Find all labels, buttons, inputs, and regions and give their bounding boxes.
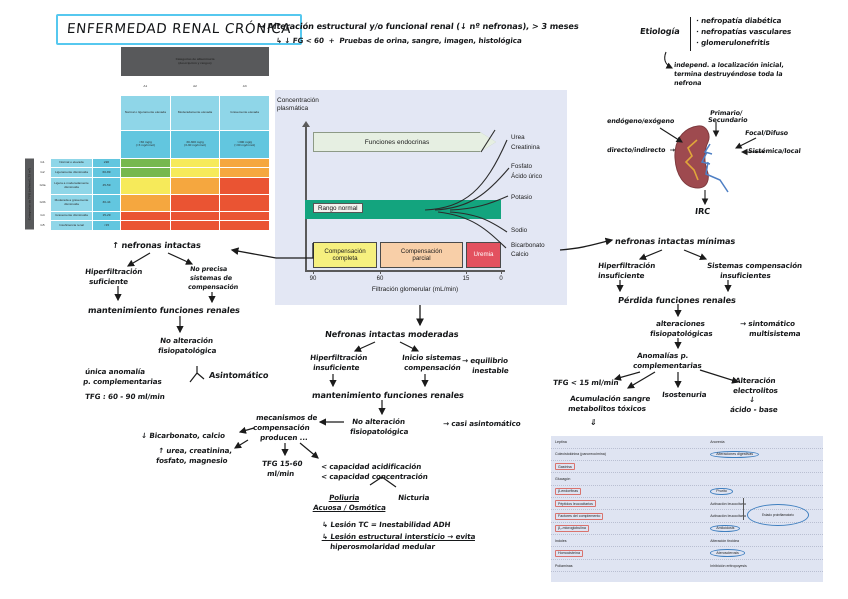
branch-right-hiperf-l1: Hiperfiltración: [598, 262, 656, 270]
toxin-name-cell: Gastrina: [551, 461, 638, 473]
chart-xticklabel-0: 90: [310, 276, 317, 282]
chart-endocrine-box: Funciones endocrinas: [313, 132, 481, 152]
kdigo-row-code: G2: [35, 168, 51, 178]
branch-center-equilibrio-l2: inestable: [472, 367, 510, 375]
chart-series-urea: Urea: [511, 134, 525, 142]
toxin-effect: Prurito: [710, 488, 733, 496]
branch-left-anomalia-l2: p. complementarias: [83, 378, 163, 386]
arrow-right-b1: [640, 250, 662, 259]
toxin-name: β₂-microglobulina: [555, 525, 589, 532]
toxin-row: IndolesAlteración tiroidea: [551, 535, 823, 547]
kdigo-row-desc: Normal o elevada: [51, 158, 93, 168]
toxin-effect: Alteración tiroidea: [710, 539, 739, 543]
toxin-name-cell: Glucagón: [551, 473, 638, 485]
toxin-name-cell: Indoles: [551, 535, 638, 547]
branch-left-hiperfiltracion-l2: suficiente: [89, 278, 129, 286]
kdigo-albuminuria-header-l2: (descripción y rangos): [178, 61, 211, 65]
kdigo-risk-cell-red: [170, 194, 220, 211]
chart-xtick-90: [313, 270, 314, 274]
chart-series-potasio: Potasio: [511, 194, 532, 202]
branch-right-sist-l1: Sistemas compensación: [707, 262, 803, 270]
kdigo-classification-table: Categorías de albuminuria (descripción y…: [24, 46, 270, 231]
toxin-name: Péptidos leucocitarios: [555, 500, 596, 507]
branch-center-lesion-1: ↳ Lesión TC = Inestabilidad ADH: [322, 521, 451, 529]
branch-left-low-l1: No alteración: [160, 337, 214, 345]
kidney-label-focal-difuso: Focal/Difuso: [745, 130, 789, 138]
toxin-effect-cell: Aterosclerosis: [638, 547, 823, 560]
branch-center-poliuria: Poliuria: [329, 494, 360, 502]
branch-center-mid: mantenimiento funciones renales: [311, 391, 464, 401]
branch-center-low-l1: No alteración: [352, 418, 406, 426]
kidney-diagram: [650, 118, 760, 213]
toxin-name: Gastrina: [555, 463, 575, 470]
branch-left-nocompensa-l3: compensación: [188, 284, 239, 292]
kdigo-col-val-a3: >300 mg/g (>30 mg/mmol): [220, 130, 270, 158]
arrow-center-b2: [400, 342, 418, 351]
toxin-name: Poliaminas: [555, 564, 573, 568]
kdigo-row-range: 45-59: [93, 177, 121, 194]
toxin-effect: Alteraciones digestivas: [710, 451, 759, 459]
branch-left-hiperfiltracion-l1: Hiperfiltración: [85, 268, 143, 276]
chart-series-calcio: Calcio: [511, 251, 529, 259]
chart-xticklabel-3: 0: [499, 276, 502, 282]
branch-center-head: Nefronas intactas moderadas: [324, 330, 459, 340]
branch-center-mecanismos-l3: producen ...: [260, 434, 309, 442]
kdigo-col-desc-a3: Gravemente elevada: [220, 96, 270, 130]
toxin-effect: Anorexia: [710, 440, 724, 444]
kdigo-risk-cell-orange: [170, 177, 220, 194]
kdigo-risk-cell-yellow: [170, 158, 220, 168]
branch-center-hiperf-l1: Hiperfiltración: [310, 354, 368, 362]
gfr-plasma-concentration-chart: Concentración plasmática Funciones endoc…: [275, 90, 567, 305]
kidney-svg: [650, 118, 760, 213]
kidney-label-irc: IRC: [694, 207, 710, 217]
chart-zone-compensacion-completa: Compensación completa: [313, 242, 377, 268]
toxin-effect: Aterosclerosis: [710, 549, 745, 557]
chart-series-fosfato: Fosfato: [511, 163, 532, 171]
kdigo-row-code: G1: [35, 158, 51, 168]
chart-xticklabel-2: 15: [463, 276, 470, 282]
toxin-name-cell: Péptidos leucocitarios: [551, 498, 638, 510]
toxin-name: β-endorfinas: [555, 488, 581, 495]
toxin-name: Indoles: [555, 539, 567, 543]
toxin-name-cell: Homocisteína: [551, 547, 638, 560]
toxin-effect: Amiloidosis: [710, 525, 740, 533]
chart-series-acido-urico: Ácido úrico: [511, 173, 542, 181]
arrow-left-b2: [168, 253, 192, 264]
kdigo-col-val-a1: <30 mg/g (<3 mg/mmol): [121, 130, 171, 158]
kdigo-risk-cell-red: [220, 194, 270, 211]
zone1-l2: parcial: [412, 255, 430, 262]
branch-right-anomalias-l2: complementarias: [633, 362, 702, 370]
kdigo-table: Categorías de albuminuria (descripción y…: [24, 46, 270, 231]
branch-right-electrolitos-l1: Alteración: [735, 377, 776, 385]
etiologia-note-2: termina destruyéndose toda la: [674, 71, 783, 79]
kdigo-risk-cell-orange: [220, 158, 270, 168]
etiologia-item-1: · nefropatías vasculares: [696, 28, 792, 36]
kdigo-row-code: G3a: [35, 177, 51, 194]
kdigo-risk-cell-red: [220, 211, 270, 221]
branch-left-nocompensa-l2: sistemas de: [190, 275, 233, 283]
arrow-right-b2: [684, 250, 706, 259]
branch-center-equilibrio-l1: → equilibrio: [462, 357, 509, 365]
zone2-l1: Uremia: [474, 251, 494, 258]
branch-center-casi-asintomatico: → casi asintomático: [443, 420, 521, 428]
arrow-center-b1: [355, 342, 375, 351]
toxin-name-cell: Leptina: [551, 436, 638, 448]
arrow-left-split: [190, 366, 204, 382]
chart-series-sodio: Sodio: [511, 227, 527, 235]
toxin-effect-cell: [638, 473, 823, 485]
kidney-label-sistemica-local: Sistémica/local: [748, 148, 801, 156]
zone1-l1: Compensación: [401, 248, 442, 255]
toxin-effect-cell: Alteraciones digestivas: [638, 448, 823, 461]
kdigo-risk-cell-green: [121, 168, 171, 178]
etiologia-item-0: · nefropatía diabética: [696, 17, 782, 25]
kdigo-row-code: G4: [35, 211, 51, 221]
branch-center-tfg-l1: TFG 15-60: [262, 460, 303, 468]
toxin-name-cell: β-endorfinas: [551, 485, 638, 498]
arrow-etiologia-note: [665, 52, 672, 68]
kidney-top-label-l2: Secundario: [708, 117, 748, 125]
toxin-name-cell: Colecistokinina (pancreocimina): [551, 448, 638, 461]
chart-series-creatinina: Creatinina: [511, 144, 540, 152]
kdigo-gfr-axis-label: Categorías de TFG (ml/min/1,73 m²): [25, 158, 35, 230]
chart-series-bicarbonato: Bicarbonato: [511, 242, 545, 250]
toxin-row: Colecistokinina (pancreocimina)Alteracio…: [551, 448, 823, 461]
arrow-mec-right: [300, 443, 318, 458]
chart-ylabel-l2: plasmática: [277, 105, 308, 112]
chart-xticklabel-1: 60: [377, 276, 384, 282]
branch-center-sist-l2: compensación: [404, 364, 461, 372]
kdigo-risk-cell-yellow: [121, 177, 171, 194]
branch-right-low-l2: fisiopatológicas: [650, 330, 713, 338]
arrow-mec-left2: [235, 440, 248, 448]
branch-center-sist-l1: Inicio sistemas: [402, 354, 462, 362]
kdigo-row-range: ≥90: [93, 158, 121, 168]
kdigo-row: G3aLigera a moderadamente disminuida45-5…: [25, 177, 270, 194]
branch-left-asintomatico: Asintomático: [208, 371, 268, 381]
chart-xtick-0: [501, 270, 502, 274]
branch-left-tfg: TFG : 60 - 90 ml/min: [85, 393, 166, 401]
branch-right-low-l1: alteraciones: [656, 320, 706, 328]
toxin-name-cell: Factores del complemento: [551, 510, 638, 522]
branch-left-nocompensa-l1: No precisa: [190, 266, 228, 274]
kdigo-row-desc: Insuficiencia renal: [51, 221, 93, 231]
branch-center-urea-l1: ↑ urea, creatinina,: [158, 447, 233, 455]
branch-right-sist-l2: insuficientes: [720, 272, 771, 280]
branch-right-mid: Pérdida funciones renales: [617, 296, 736, 306]
toxin-effect-cell: Anorexia: [638, 436, 823, 448]
etiologia-label: Etiología: [639, 27, 680, 37]
toxin-effect-cell: Alteración tiroidea: [638, 535, 823, 547]
kdigo-risk-cell-orange: [220, 168, 270, 178]
definition-line-1: → Alteración estructural y/o funcional r…: [257, 22, 579, 32]
kdigo-risk-cell-orange: [121, 194, 171, 211]
kdigo-col-desc-a2: Moderadamente elevada: [170, 96, 220, 130]
toxin-effect: Inhibición eritropoyesis: [710, 564, 747, 568]
branch-left-mid: mantenimiento funciones renales: [87, 306, 240, 316]
arrow-chart-to-right: [560, 240, 612, 250]
toxin-name: Homocisteína: [555, 550, 583, 557]
kdigo-row-code: G5: [35, 221, 51, 231]
arrow-right-acum: [628, 372, 655, 388]
branch-center-low-l2: fisiopatológica: [350, 428, 409, 436]
branch-right-electrolitos-l4: ácido - base: [730, 406, 778, 414]
kdigo-col-a3: A3: [220, 77, 270, 96]
branch-right-tfg: TFG < 15 ml/min: [553, 379, 619, 387]
branch-left-anomalia-l1: única anomalía: [85, 368, 146, 376]
kdigo-row-range: 15-29: [93, 211, 121, 221]
branch-right-head: nefronas intactas mínimas: [614, 237, 735, 247]
chart-zone-uremia: Uremia: [466, 242, 501, 268]
kdigo-risk-cell-red: [121, 221, 171, 231]
toxin-row: Gastrina: [551, 461, 823, 473]
kdigo-row: G2Ligeramente disminuida60-89: [25, 168, 270, 178]
chart-xtick-60: [380, 270, 381, 274]
toxin-effect: Activación leucocitaria: [710, 502, 746, 506]
toxin-name: Leptina: [555, 440, 567, 444]
etiologia-note-1: independ. a localización inicial,: [674, 62, 784, 70]
branch-center-capacidad-l1: < capacidad acidificación: [321, 463, 422, 471]
chart-ylabel-l1: Concentración: [277, 97, 319, 104]
etiologia-item-2: · glomerulonefritis: [696, 39, 771, 47]
toxin-name-cell: Poliaminas: [551, 560, 638, 572]
kdigo-row-desc: Ligeramente disminuida: [51, 168, 93, 178]
chart-y-axis: [305, 126, 307, 271]
toxin-name-cell: β₂-microglobulina: [551, 522, 638, 535]
toxin-row: PoliaminasInhibición eritropoyesis: [551, 560, 823, 572]
branch-right-sintomatico-l1: → sintomático: [740, 320, 796, 328]
kdigo-row-range: <15: [93, 221, 121, 231]
toxin-effect-cell: [638, 461, 823, 473]
branch-right-down-arrow: ⇓: [589, 418, 597, 428]
branch-center-lesion-3: hiperosmolaridad medular: [330, 543, 436, 551]
kdigo-risk-cell-red: [170, 221, 220, 231]
kdigo-row-desc: Moderada a gravemente disminuida: [51, 194, 93, 211]
definition-line-2: ↳ ↓ FG < 60 + Pruebas de orina, sangre, …: [276, 37, 523, 45]
arrow-right-elec: [700, 370, 738, 382]
branch-right-isostenuria: Isostenuria: [662, 391, 707, 399]
branch-center-bicarbonato: ↓ Bicarbonato, calcio: [141, 432, 226, 440]
branch-center-mecanismos-l1: mecanismos de: [256, 414, 318, 422]
toxin-row: LeptinaAnorexia: [551, 436, 823, 448]
chart-endocrine-arrow: [480, 132, 496, 152]
branch-center-mecanismos-l2: compensación: [253, 424, 310, 432]
toxin-row: β-endorfinasPrurito: [551, 485, 823, 498]
notes-page: ENFERMEDAD RENAL CRÓNICA → Alteración es…: [0, 0, 848, 599]
uremic-toxins-table: LeptinaAnorexiaColecistokinina (pancreoc…: [551, 436, 823, 582]
arrow-right-tfg: [615, 372, 640, 379]
branch-center-nicturia: Nicturia: [398, 494, 430, 502]
branch-right-acumulacion-l1: Acumulación sangre: [570, 395, 651, 403]
kdigo-row: G5Insuficiencia renal<15: [25, 221, 270, 231]
chart-xtick-15: [466, 270, 467, 274]
kidney-label-directo-indirecto: directo/indirecto →: [607, 147, 676, 155]
kdigo-col-val-a2: 30-300 mg/g (3-30 mg/mmol): [170, 130, 220, 158]
arrow-left-b1: [128, 253, 150, 266]
kdigo-rows: Categorías de TFG (ml/min/1,73 m²)G1Norm…: [25, 158, 270, 230]
chart-normal-range-label: Rango normal: [313, 203, 363, 213]
branch-left-low-l2: fisiopatológica: [158, 347, 217, 355]
kdigo-risk-cell-red: [220, 177, 270, 194]
zone0-l1: Compensación: [324, 248, 365, 255]
branch-right-sintomatico-l2: multisistema: [749, 330, 801, 338]
kdigo-row-range: 60-89: [93, 168, 121, 178]
branch-center-lesion-2: ↳ Lesión estructural intersticio → evita: [322, 533, 476, 541]
branch-right-acumulacion-l2: metabolitos tóxicos: [568, 405, 647, 413]
etiologia-note-3: nefrona: [674, 80, 702, 88]
branch-center-tfg-l2: ml/min: [267, 470, 295, 478]
kdigo-risk-cell-red: [121, 211, 171, 221]
chart-zone-compensacion-parcial: Compensación parcial: [380, 242, 463, 268]
kdigo-group-header-row: Categorías de albuminuria (descripción y…: [25, 47, 270, 77]
toxin-effect-cell: Prurito: [638, 485, 823, 498]
zone0-l2: completa: [332, 255, 357, 262]
kdigo-row: G4Gravemente disminuida15-29: [25, 211, 270, 221]
branch-left-head: ↑ nefronas intactas: [111, 241, 201, 251]
toxins-side-note: Estado proinflamatorio: [747, 504, 809, 526]
toxin-name: Glucagón: [555, 477, 570, 481]
kdigo-risk-cell-red: [170, 211, 220, 221]
branch-center-hiperf-l2: insuficiente: [313, 364, 360, 372]
chart-x-axis-label: Filtración glomerular (mL/min): [315, 286, 515, 293]
toxin-name: Factores del complemento: [555, 513, 603, 520]
kdigo-row-desc: Gravemente disminuida: [51, 211, 93, 221]
toxin-effect: Activación leucocitaria: [710, 514, 746, 518]
kdigo-risk-cell-green: [121, 158, 171, 168]
kdigo-row: G3bModerada a gravemente disminuida30-44: [25, 194, 270, 211]
kdigo-row-code: G3b: [35, 194, 51, 211]
chart-y-axis-label: Concentración plasmática: [277, 97, 319, 113]
arrow-chart-to-left: [232, 250, 276, 258]
kdigo-risk-cell-yellow: [170, 168, 220, 178]
toxin-row: Glucagón: [551, 473, 823, 485]
kdigo-col-a2: A2: [170, 77, 220, 96]
chart-x-axis: [305, 270, 505, 272]
etiologia-brace: [690, 17, 691, 51]
toxin-row: HomocisteínaAterosclerosis: [551, 547, 823, 560]
toxin-effect-cell: Inhibición eritropoyesis: [638, 560, 823, 572]
kdigo-col-a1: A1: [121, 77, 171, 96]
branch-right-electrolitos-l3: ↓: [749, 396, 756, 404]
toxin-name: Colecistokinina (pancreocimina): [555, 452, 606, 456]
branch-center-urea-l2: fosfato, magnesio: [156, 457, 228, 465]
kdigo-row: Categorías de TFG (ml/min/1,73 m²)G1Norm…: [25, 158, 270, 168]
kdigo-row-desc: Ligera a moderadamente disminuida: [51, 177, 93, 194]
kdigo-col-desc-a1: Normal o ligeramente elevada: [121, 96, 171, 130]
branch-right-hiperf-l2: insuficiente: [598, 272, 645, 280]
kdigo-risk-cell-red: [220, 221, 270, 231]
branch-center-poliuria-tipo: Acuosa / Osmótica: [313, 504, 387, 512]
kdigo-row-range: 30-44: [93, 194, 121, 211]
branch-center-capacidad-l2: < capacidad concentración: [321, 473, 429, 481]
toxins-side-bracket: [743, 498, 744, 520]
kidney-label-endogeno-exogeno: endógeno/exógeno: [607, 118, 675, 126]
branch-right-anomalias-l1: Anomalías p.: [637, 352, 689, 360]
